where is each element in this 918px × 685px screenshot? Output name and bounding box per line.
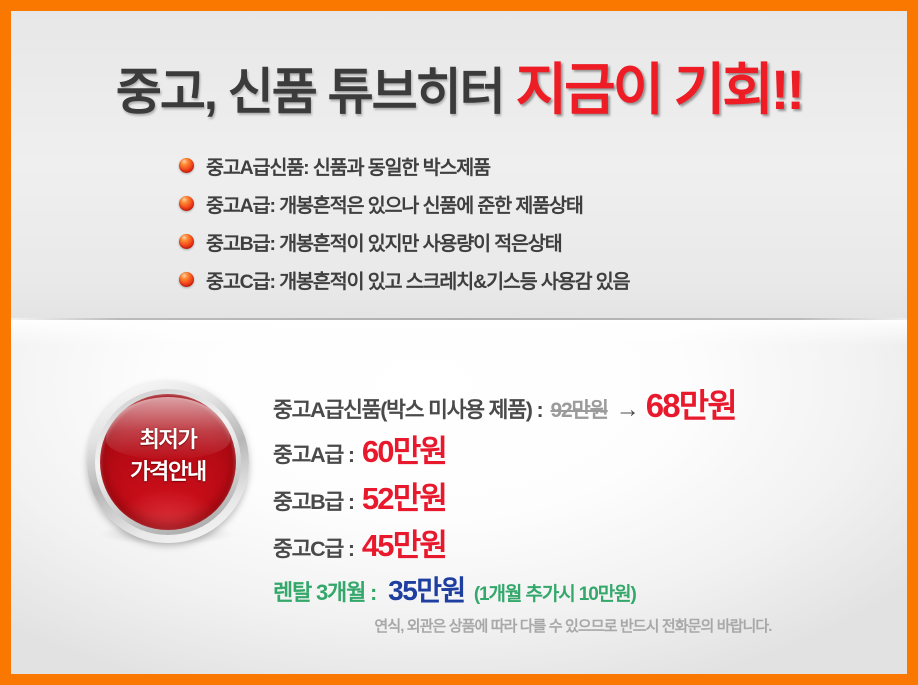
badge-line-2: 가격안내 [100, 456, 236, 488]
promo-banner: 중고, 신품 튜브히터지금이 기회!! 중고A급신품: 신품과 동일한 박스제품… [0, 0, 918, 685]
list-item: 중고C급: 개봉흔적이 있고 스크레치&기스등 사용감 있음 [179, 260, 629, 298]
price-value: 60만원 [362, 426, 446, 471]
price-old-value: 92만원 [551, 394, 608, 424]
arrow-right-icon: → [616, 396, 640, 424]
list-item-label: 중고C급: 개봉흔적이 있고 스크레치&기스등 사용감 있음 [206, 265, 629, 294]
list-item-label: 중고B급: 개봉흔적이 있지만 사용량이 적은상태 [206, 227, 562, 256]
price-label: 중고A급신품(박스 미사용 제품) : [273, 393, 543, 424]
section-divider-glow [11, 320, 907, 346]
badge-core: 최저가 가격안내 [100, 394, 236, 530]
rental-price-value: 35만원 [388, 569, 465, 609]
grade-description-list: 중고A급신품: 신품과 동일한 박스제품 중고A급: 개봉흔적은 있으나 신품에… [179, 146, 629, 298]
red-sphere-bullet-icon [179, 196, 194, 211]
price-value: 68만원 [646, 379, 736, 427]
disclaimer-note: 연식, 외관은 상품에 따라 다를 수 있으므로 반드시 전화문의 바랍니다. [273, 615, 873, 636]
list-item: 중고A급신품: 신품과 동일한 박스제품 [179, 146, 629, 184]
price-list: 중고A급신품(박스 미사용 제품) : 92만원 → 68만원 중고A급 : 6… [273, 379, 736, 567]
price-label: 중고C급 : [273, 532, 354, 563]
price-label: 중고A급 : [273, 438, 354, 469]
list-item-label: 중고A급신품: 신품과 동일한 박스제품 [206, 151, 490, 180]
banner-title: 중고, 신품 튜브히터지금이 기회!! [11, 45, 907, 126]
lowest-price-badge: 최저가 가격안내 [87, 381, 249, 543]
list-item: 중고B급: 개봉흔적이 있지만 사용량이 적은상태 [179, 222, 629, 260]
title-red-part: 지금이 기회!! [516, 58, 802, 121]
price-value: 52만원 [362, 473, 446, 518]
badge-line-1: 최저가 [100, 424, 236, 456]
price-label: 중고B급 : [273, 485, 354, 516]
red-sphere-bullet-icon [179, 158, 194, 173]
list-item-label: 중고A급: 개봉흔적은 있으나 신품에 준한 제품상태 [206, 189, 583, 218]
red-sphere-bullet-icon [179, 234, 194, 249]
price-value: 45만원 [362, 520, 446, 565]
price-row-grade-c: 중고C급 : 45만원 [273, 520, 736, 567]
price-row-grade-b: 중고B급 : 52만원 [273, 473, 736, 520]
banner-inner: 중고, 신품 튜브히터지금이 기회!! 중고A급신품: 신품과 동일한 박스제품… [11, 11, 907, 674]
rental-price-row: 렌탈 3개월 : 35만원 (1개월 추가시 10만원) [273, 569, 636, 609]
list-item: 중고A급: 개봉흔적은 있으나 신품에 준한 제품상태 [179, 184, 629, 222]
rental-label: 렌탈 3개월 : [273, 575, 376, 607]
red-sphere-bullet-icon [179, 272, 194, 287]
price-row-grade-a: 중고A급 : 60만원 [273, 426, 736, 473]
title-dark-part: 중고, 신품 튜브히터 [116, 64, 504, 120]
price-row-a-new: 중고A급신품(박스 미사용 제품) : 92만원 → 68만원 [273, 379, 736, 426]
badge-text: 최저가 가격안내 [100, 424, 236, 488]
rental-extra-note: (1개월 추가시 10만원) [474, 579, 636, 606]
